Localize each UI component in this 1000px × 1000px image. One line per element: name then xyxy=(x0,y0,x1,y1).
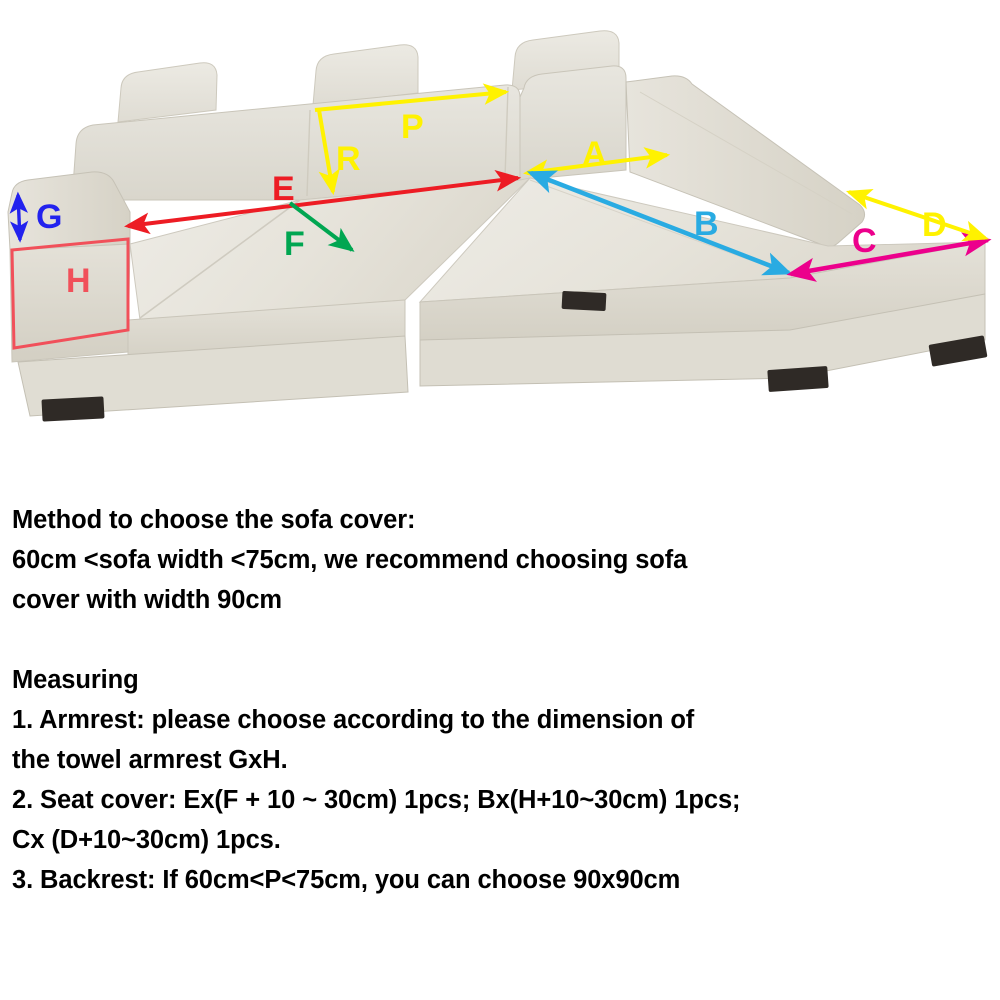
label-D: D xyxy=(922,206,947,244)
instruction-line-seatcover-2: Cx (D+10~30cm) 1pcs. xyxy=(12,820,988,860)
sofa-illustration xyxy=(8,31,987,422)
instruction-line-1: Method to choose the sofa cover: xyxy=(12,500,988,540)
sofa-measuring-diagram: G H E F R P A B C D xyxy=(0,0,1000,470)
sofa-foot-chaise-front xyxy=(767,366,828,392)
sofa-foot-left xyxy=(41,396,104,421)
label-A: A xyxy=(582,135,607,173)
instruction-line-armrest-2: the towel armrest GxH. xyxy=(12,740,988,780)
sofa-cover-guide-page: G H E F R P A B C D Method to choose the… xyxy=(0,0,1000,1000)
label-R: R xyxy=(336,140,361,178)
instruction-heading-measuring: Measuring xyxy=(12,660,988,700)
instructions-block: Method to choose the sofa cover: 60cm <s… xyxy=(0,500,1000,900)
left-armrest-top xyxy=(8,172,130,250)
label-G: G xyxy=(36,198,62,236)
sofa-foot-center xyxy=(562,291,607,311)
label-F: F xyxy=(284,225,305,263)
instruction-line-backrest: 3. Backrest: If 60cm<P<75cm, you can cho… xyxy=(12,860,988,900)
label-C: C xyxy=(852,222,877,260)
instruction-line-armrest-1: 1. Armrest: please choose according to t… xyxy=(12,700,988,740)
label-P: P xyxy=(401,108,424,146)
label-B: B xyxy=(694,205,719,243)
instruction-line-blank xyxy=(12,620,988,660)
instruction-line-2: 60cm <sofa width <75cm, we recommend cho… xyxy=(12,540,988,580)
instruction-line-seatcover-1: 2. Seat cover: Ex(F + 10 ~ 30cm) 1pcs; B… xyxy=(12,780,988,820)
arrow-G xyxy=(18,195,20,240)
label-H: H xyxy=(66,262,91,300)
label-E: E xyxy=(272,170,295,208)
instruction-line-3: cover with width 90cm xyxy=(12,580,988,620)
